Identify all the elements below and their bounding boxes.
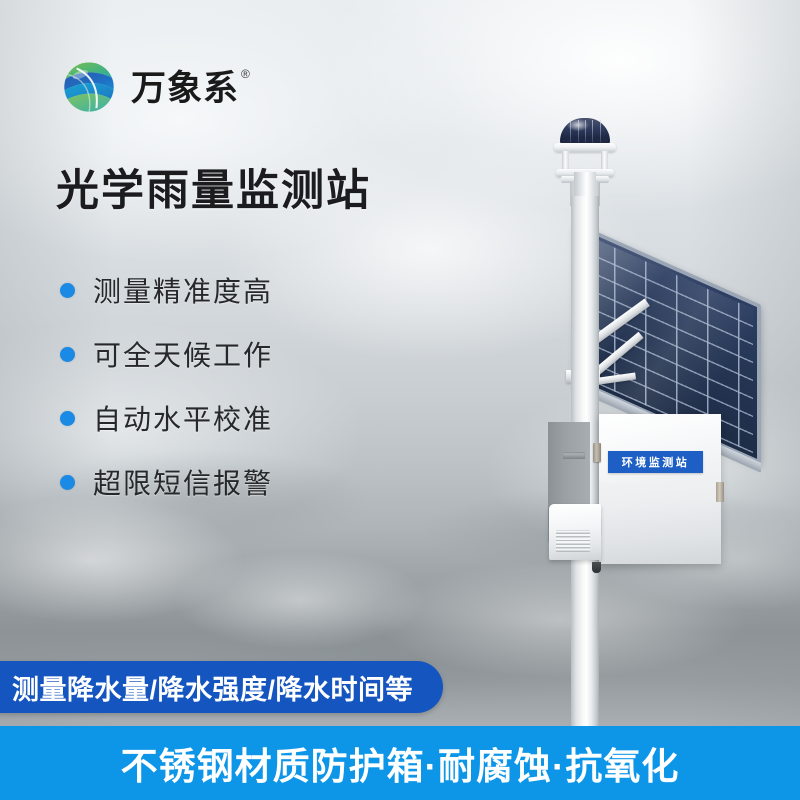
bottom-tagline-bar: 不锈钢材质防护箱·耐腐蚀·抗氧化 bbox=[0, 726, 800, 800]
feature-label: 测量精准度高 bbox=[93, 270, 273, 310]
capability-banner-text: 测量降水量/降水强度/降水时间等 bbox=[12, 668, 413, 707]
bullet-dot-icon bbox=[60, 475, 75, 490]
list-item: 测量精准度高 bbox=[60, 258, 273, 322]
feature-label: 可全天候工作 bbox=[93, 334, 273, 374]
registered-trademark-icon: ® bbox=[241, 67, 250, 81]
bullet-dot-icon bbox=[60, 411, 75, 426]
globe-swirl-logo-icon bbox=[58, 56, 120, 118]
list-item: 自动水平校准 bbox=[60, 386, 273, 450]
page-title: 光学雨量监测站 bbox=[56, 168, 371, 214]
bottom-tagline-text: 不锈钢材质防护箱·耐腐蚀·抗氧化 bbox=[121, 736, 680, 790]
brand-logo: 万象系 ® bbox=[58, 56, 250, 118]
list-item: 可全天候工作 bbox=[60, 322, 273, 386]
bullet-dot-icon bbox=[60, 283, 75, 298]
promo-banner-image: 环境监测站 bbox=[0, 0, 800, 800]
feature-label: 自动水平校准 bbox=[93, 398, 273, 438]
brand-name: 万象系 bbox=[131, 68, 239, 107]
bullet-dot-icon bbox=[60, 347, 75, 362]
list-item: 超限短信报警 bbox=[60, 450, 273, 514]
feature-list: 测量精准度高 可全天候工作 自动水平校准 超限短信报警 bbox=[60, 258, 273, 514]
feature-label: 超限短信报警 bbox=[93, 462, 273, 502]
capability-banner: 测量降水量/降水强度/降水时间等 bbox=[0, 661, 443, 713]
